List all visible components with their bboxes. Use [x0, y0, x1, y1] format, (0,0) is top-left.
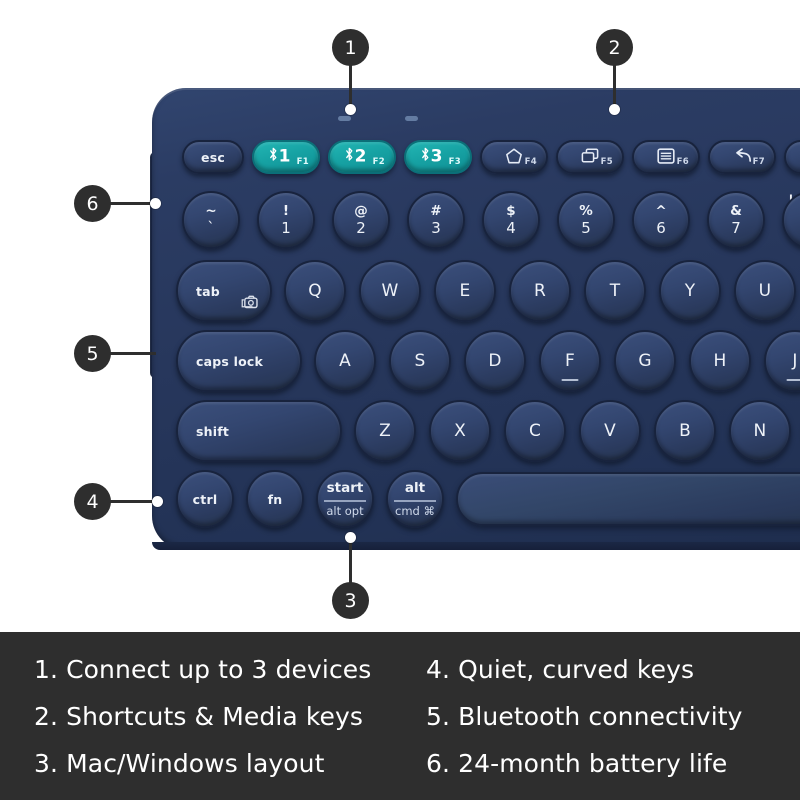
key-fn-label: F3 [449, 157, 461, 167]
key-label: C [529, 421, 541, 441]
key-shift-label: $ [506, 204, 515, 219]
led-indicator-2 [405, 116, 418, 121]
key-label-windows: alt [405, 480, 425, 499]
key-fn-label: F7 [753, 157, 765, 167]
callout-badge-2[interactable]: 2 [596, 29, 633, 66]
key-shift-label: # [430, 204, 441, 219]
key-label: W [381, 281, 398, 301]
key-2[interactable]: @2 [332, 191, 390, 249]
key-fn[interactable]: fn [246, 470, 304, 528]
key-f3[interactable]: 3F3 [404, 140, 472, 174]
key-label: Z [379, 421, 391, 441]
caption-item: 1. Connect up to 3 devices [34, 655, 408, 684]
key-f8[interactable]: F8 [784, 140, 800, 174]
key-shift-label: & [730, 204, 742, 219]
key-z[interactable]: Z [354, 400, 416, 462]
callout-badge-1[interactable]: 1 [332, 29, 369, 66]
key-label: Q [308, 281, 322, 301]
key-start[interactable]: startalt opt [316, 470, 374, 528]
key-f5[interactable]: F5 [556, 140, 624, 174]
key-label: 1 [281, 220, 291, 237]
callout-4-leader [110, 500, 158, 503]
callout-1-dot [345, 104, 356, 115]
key-label: A [339, 351, 351, 371]
callout-2-dot [609, 104, 620, 115]
key-esc[interactable]: esc [182, 140, 244, 174]
key-label: T [610, 281, 621, 301]
key-e[interactable]: E [434, 260, 496, 322]
key-6[interactable]: ^6 [632, 191, 690, 249]
key-tab[interactable]: tab [176, 260, 272, 322]
product-feature-graphic: logitech esc1F12F23F3F4F5F6F7F8~`!1@2#3$… [0, 0, 800, 800]
key-label: 7 [731, 220, 741, 237]
caption-column-left: 1. Connect up to 3 devices 2. Shortcuts … [0, 632, 408, 800]
key-b[interactable]: B [654, 400, 716, 462]
key-1[interactable]: !1 [257, 191, 315, 249]
key-w[interactable]: W [359, 260, 421, 322]
key-label: shift [196, 424, 229, 439]
key-label: esc [201, 150, 225, 165]
key-label: V [604, 421, 616, 441]
homing-bar [562, 379, 579, 382]
key-divider [394, 500, 436, 502]
key-label: caps lock [196, 354, 263, 369]
key-3[interactable]: #3 [407, 191, 465, 249]
key-shift-label: ! [283, 204, 289, 219]
caption-item: 2. Shortcuts & Media keys [34, 702, 408, 731]
key-label: Y [685, 281, 696, 301]
key-channel-number: 1 [279, 147, 291, 167]
app-switch-icon [581, 147, 600, 164]
key-alt[interactable]: altcmd ⌘ [386, 470, 444, 528]
key-v[interactable]: V [579, 400, 641, 462]
key-shift-label: % [579, 204, 593, 219]
key-fn-label: F1 [297, 157, 309, 167]
key-y[interactable]: Y [659, 260, 721, 322]
key-u[interactable]: U [734, 260, 796, 322]
key-label: ctrl [193, 492, 218, 507]
key-fn-label: F2 [373, 157, 385, 167]
key-label: 5 [581, 220, 591, 237]
key-label: tab [196, 284, 220, 299]
key-spacebar[interactable] [456, 472, 800, 526]
key-label: J [792, 351, 797, 371]
key-g[interactable]: G [614, 330, 676, 392]
callout-5-leader [110, 352, 156, 355]
key-c[interactable]: C [504, 400, 566, 462]
key-f[interactable]: F [539, 330, 601, 392]
key-label: 6 [656, 220, 666, 237]
caption-item: 4. Quiet, curved keys [426, 655, 800, 684]
led-indicator-1 [338, 116, 351, 121]
key-`[interactable]: ~` [182, 191, 240, 249]
callout-badge-5[interactable]: 5 [74, 335, 111, 372]
key-r[interactable]: R [509, 260, 571, 322]
key-x[interactable]: X [429, 400, 491, 462]
callout-badge-3[interactable]: 3 [332, 582, 369, 619]
key-label: R [534, 281, 546, 301]
key-fn-label: F4 [525, 157, 537, 167]
key-label: 2 [356, 220, 366, 237]
key-divider [324, 500, 366, 502]
key-label: G [638, 351, 651, 371]
key-label: fn [268, 492, 283, 507]
key-q[interactable]: Q [284, 260, 346, 322]
key-fn-label: F5 [601, 157, 613, 167]
key-label: E [460, 281, 471, 301]
caption-item: 6. 24-month battery life [426, 749, 800, 778]
key-shift[interactable]: shift [176, 400, 342, 462]
key-label: S [415, 351, 426, 371]
key-label: H [714, 351, 727, 371]
home-icon [505, 147, 523, 164]
key-label: X [454, 421, 466, 441]
callout-badge-6[interactable]: 6 [74, 185, 111, 222]
homing-bar [787, 379, 800, 382]
back-arrow-icon [732, 148, 752, 164]
key-4[interactable]: $4 [482, 191, 540, 249]
key-n[interactable]: N [729, 400, 791, 462]
callout-3-leader [349, 537, 352, 585]
key-label: D [488, 351, 501, 371]
key-f7[interactable]: F7 [708, 140, 776, 174]
menu-list-icon [657, 148, 675, 164]
key-5[interactable]: %5 [557, 191, 615, 249]
key-8[interactable]: *8 [782, 191, 800, 249]
key-ctrl[interactable]: ctrl [176, 470, 234, 528]
key-t[interactable]: T [584, 260, 646, 322]
callout-3-dot [345, 532, 356, 543]
key-label: F [565, 351, 575, 371]
keyboard-photo: logitech esc1F12F23F3F4F5F6F7F8~`!1@2#3$… [0, 0, 800, 632]
key-label-mac: cmd ⌘ [395, 504, 435, 518]
caption-item: 3. Mac/Windows layout [34, 749, 408, 778]
keyboard-body: logitech esc1F12F23F3F4F5F6F7F8~`!1@2#3$… [152, 88, 800, 550]
key-label: 4 [506, 220, 516, 237]
key-f6[interactable]: F6 [632, 140, 700, 174]
key-f1[interactable]: 1F1 [252, 140, 320, 174]
key-a[interactable]: A [314, 330, 376, 392]
key-f2[interactable]: 2F2 [328, 140, 396, 174]
caption-column-right: 4. Quiet, curved keys 5. Bluetooth conne… [408, 632, 800, 800]
key-channel-number: 2 [355, 147, 367, 167]
key-label: U [759, 281, 772, 301]
key-j[interactable]: J [764, 330, 800, 392]
key-d[interactable]: D [464, 330, 526, 392]
key-shift-label: @ [354, 204, 368, 219]
key-h[interactable]: H [689, 330, 751, 392]
screenshot-camera-icon [241, 294, 258, 313]
callout-badge-4[interactable]: 4 [74, 483, 111, 520]
key-label: ` [207, 220, 215, 237]
key-7[interactable]: &7 [707, 191, 765, 249]
key-channel-number: 3 [431, 147, 443, 167]
key-label-mac: alt opt [326, 504, 363, 518]
key-f4[interactable]: F4 [480, 140, 548, 174]
key-s[interactable]: S [389, 330, 451, 392]
caption-item: 5. Bluetooth connectivity [426, 702, 800, 731]
key-fn-label: F6 [677, 157, 689, 167]
callout-4-dot [152, 496, 163, 507]
key-label-windows: start [327, 480, 364, 499]
key-label: 3 [431, 220, 441, 237]
key-shift-label: ~ [205, 204, 216, 219]
callout-6-dot [150, 198, 161, 209]
key-shift-label: ^ [655, 204, 666, 219]
feature-caption-bar: 1. Connect up to 3 devices 2. Shortcuts … [0, 632, 800, 800]
key-caps-lock[interactable]: caps lock [176, 330, 302, 392]
key-label: B [679, 421, 691, 441]
key-label: N [754, 421, 767, 441]
